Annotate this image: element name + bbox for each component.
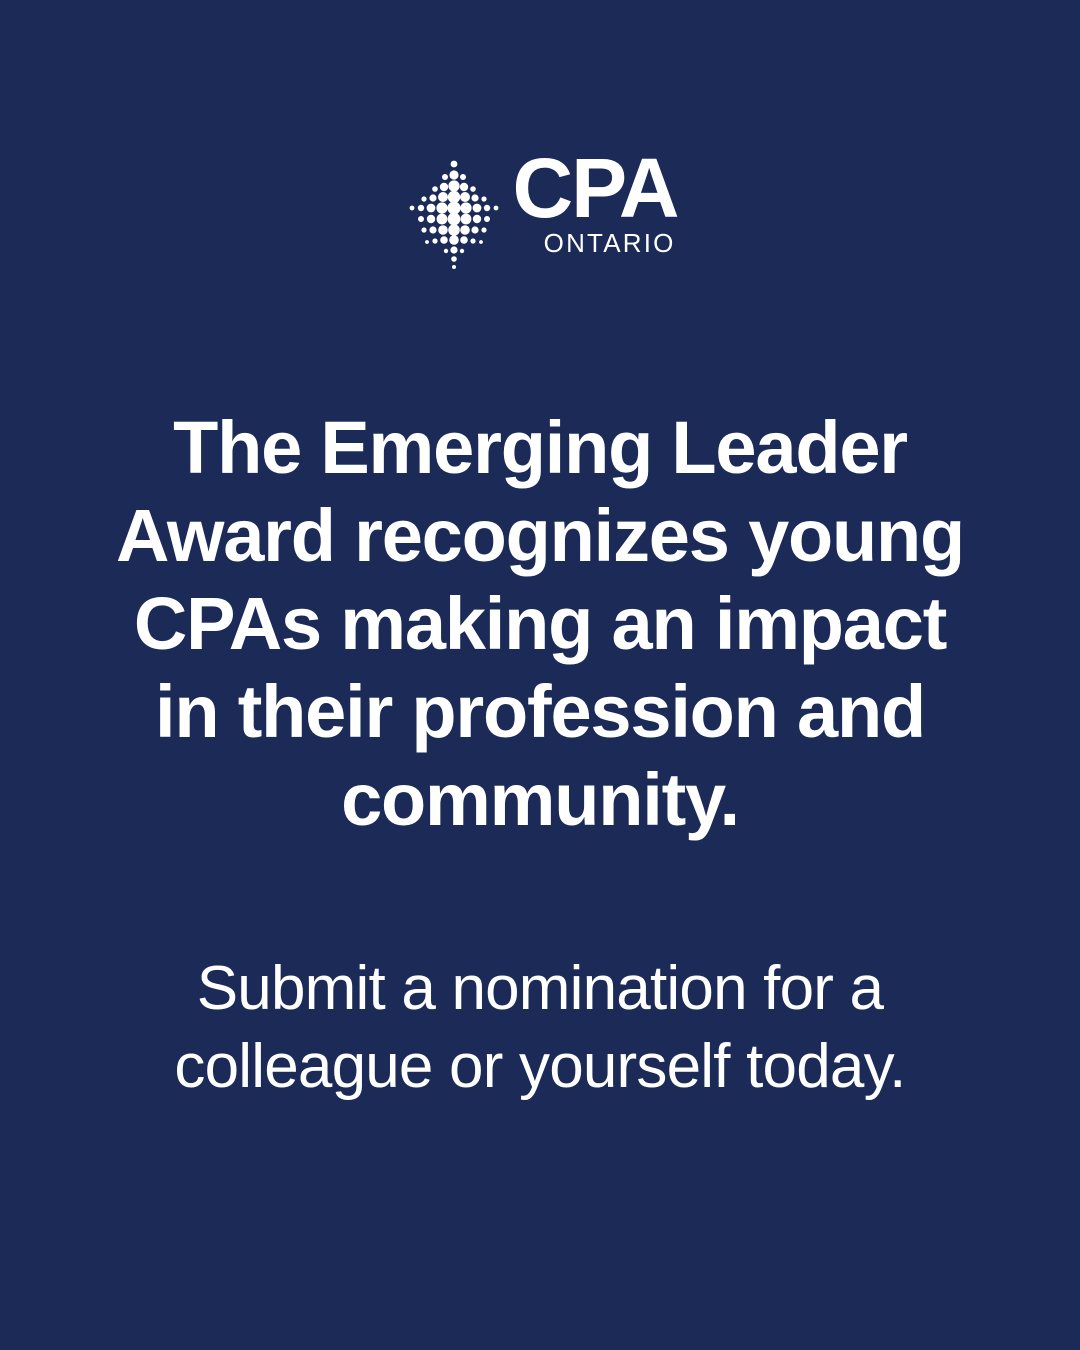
logo-lockup-inner: CPA ONTARIO — [402, 152, 677, 270]
subtext-line: Submit a nomination for a — [70, 950, 1010, 1028]
headline-line: Award recognizes young — [70, 492, 1010, 580]
headline-line: The Emerging Leader — [70, 404, 1010, 492]
social-post-canvas: CPA ONTARIO The Emerging Leader Award re… — [0, 0, 1080, 1350]
headline-line: community. — [70, 756, 1010, 844]
brand-name: CPA — [512, 152, 677, 224]
subtext-line: colleague or yourself today. — [70, 1028, 1010, 1106]
dotted-maple-leaf-icon — [402, 158, 506, 270]
call-to-action-text: Submit a nomination for a colleague or y… — [70, 950, 1010, 1106]
cpa-wordmark: CPA ONTARIO — [512, 152, 677, 256]
cpa-ontario-logo: CPA ONTARIO — [0, 152, 1080, 270]
headline-line: in their profession and — [70, 668, 1010, 756]
brand-region: ONTARIO — [544, 230, 678, 256]
headline: The Emerging Leader Award recognizes you… — [70, 404, 1010, 844]
headline-line: CPAs making an impact — [70, 580, 1010, 668]
